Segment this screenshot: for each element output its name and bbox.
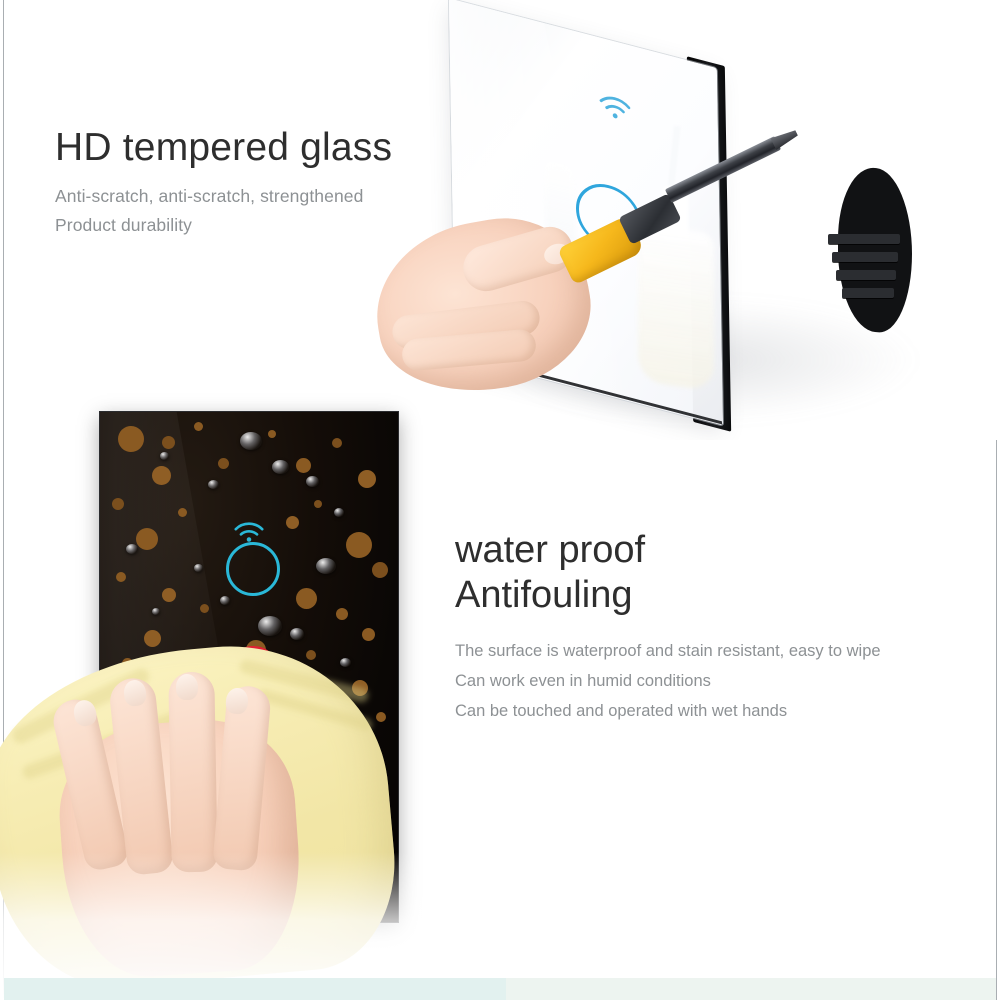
stain-drop [286, 516, 299, 529]
water-bead [152, 608, 160, 615]
subtitle-line: Can work even in humid conditions [455, 666, 985, 696]
touch-ring-icon [226, 542, 280, 596]
footer-right-panel [506, 978, 996, 1000]
subtitle-line: Can be touched and operated with wet han… [455, 696, 985, 726]
stain-drop [178, 508, 187, 517]
footer-left-panel [4, 978, 506, 1000]
stain-drop [332, 438, 342, 448]
stain-drop [136, 528, 158, 550]
water-bead [340, 658, 351, 667]
title-line: water proof [455, 528, 985, 573]
water-bead [160, 452, 169, 460]
stain-drop [144, 630, 161, 647]
hd-tempered-glass-text-block: HD tempered glass Anti-scratch, anti-scr… [55, 128, 485, 240]
stain-drop [362, 628, 375, 641]
black-glass-switch-wipe-photo [0, 382, 430, 1000]
stain-drop [116, 572, 126, 582]
section-subtitle: The surface is waterproof and stain resi… [455, 636, 985, 726]
title-line: Antifouling [455, 573, 985, 618]
water-bead [240, 432, 262, 450]
finger [168, 672, 217, 873]
stain-drop [218, 458, 229, 469]
water-bead [208, 480, 219, 489]
water-bead [316, 558, 336, 574]
stain-drop [296, 458, 311, 473]
stain-drop [376, 712, 386, 722]
water-proof-text-block: water proof Antifouling The surface is w… [455, 528, 985, 726]
stain-drop [346, 532, 372, 558]
stain-drop [152, 466, 171, 485]
stain-drop [372, 562, 388, 578]
subtitle-line: Anti-scratch, anti-scratch, strengthened [55, 182, 485, 211]
wifi-icon [232, 520, 266, 543]
stain-drop [268, 430, 276, 438]
section-subtitle: Anti-scratch, anti-scratch, strengthened… [55, 182, 485, 240]
water-bead [220, 596, 230, 605]
stain-drop [314, 500, 322, 508]
footer-strip [4, 978, 996, 1000]
stain-drop [296, 588, 317, 609]
stain-drop [112, 498, 124, 510]
stain-drop [118, 426, 144, 452]
water-bead [258, 616, 282, 636]
water-bead [126, 544, 138, 554]
water-bead [334, 508, 344, 517]
product-feature-page: HD tempered glass Anti-scratch, anti-scr… [0, 0, 1000, 1000]
subtitle-line: The surface is waterproof and stain resi… [455, 636, 985, 666]
subtitle-line: Product durability [55, 211, 485, 240]
fingernail [176, 674, 198, 700]
water-bead [290, 628, 304, 640]
section-title: HD tempered glass [55, 128, 485, 167]
stain-drop [162, 588, 176, 602]
stain-drop [194, 422, 203, 431]
stain-drop [200, 604, 209, 613]
stain-drop [306, 650, 316, 660]
stain-drop [336, 608, 348, 620]
stain-drop [358, 470, 376, 488]
spray-bottle [638, 223, 714, 392]
section-title: water proof Antifouling [455, 528, 985, 618]
water-bead [194, 564, 203, 572]
water-bead [272, 460, 289, 474]
water-bead [306, 476, 319, 487]
stain-drop [162, 436, 175, 449]
